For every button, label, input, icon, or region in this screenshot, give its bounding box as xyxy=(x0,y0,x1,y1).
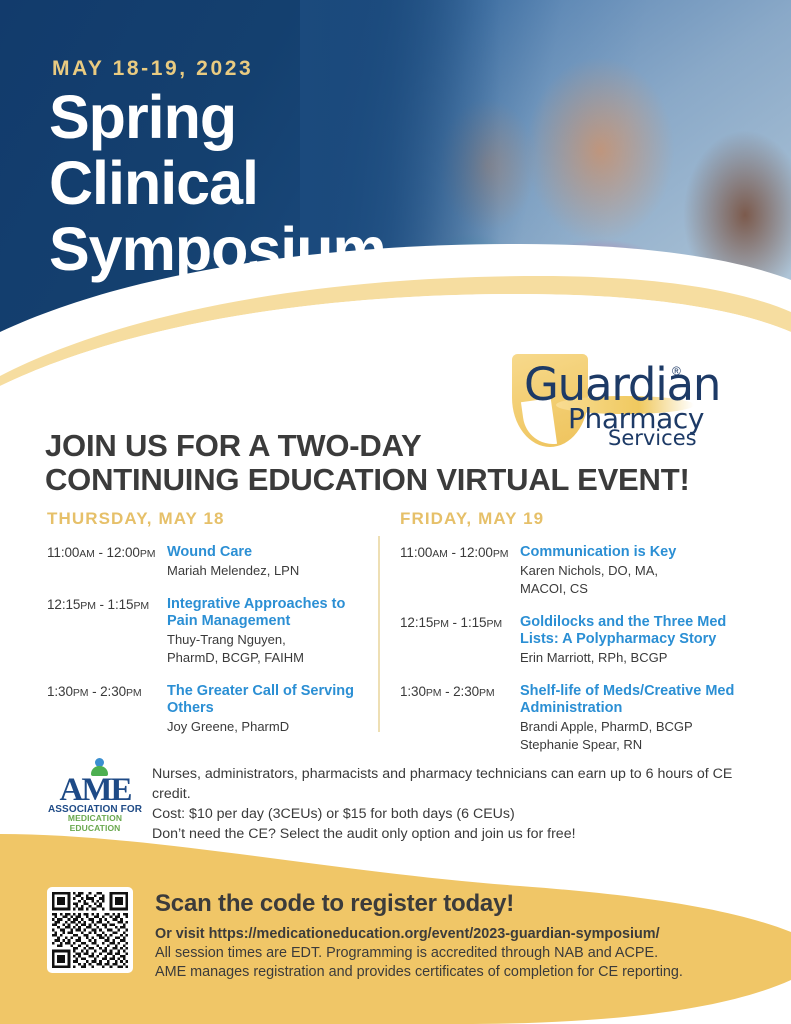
session-title: Shelf-life of Meds/Creative Med Administ… xyxy=(520,683,760,717)
session-row: 11:00AM - 12:00PMCommunication is KeyKar… xyxy=(400,544,760,597)
schedule-day-thursday: THURSDAY, MAY 18 11:00AM - 12:00PMWound … xyxy=(47,509,367,752)
session-details: Wound CareMariah Melendez, LPN xyxy=(167,544,367,579)
event-headline: JOIN US FOR A TWO-DAY CONTINUING EDUCATI… xyxy=(45,429,735,497)
session-title: Communication is Key xyxy=(520,544,760,561)
session-time: 11:00AM - 12:00PM xyxy=(47,544,167,579)
session-details: Shelf-life of Meds/Creative Med Administ… xyxy=(520,683,760,753)
registered-trademark-icon: ® xyxy=(672,364,681,378)
footer-note-line-2: All session times are EDT. Programming i… xyxy=(155,944,658,963)
session-row: 12:15PM - 1:15PMGoldilocks and the Three… xyxy=(400,614,760,666)
ame-logo: AME ASSOCIATION FOR MEDICATION EDUCATION xyxy=(45,760,145,820)
session-presenter: Mariah Melendez, LPN xyxy=(167,563,367,579)
session-list: 11:00AM - 12:00PMCommunication is KeyKar… xyxy=(400,544,760,753)
footer-note-line-3: AME manages registration and provides ce… xyxy=(155,963,683,982)
session-details: Goldilocks and the Three Med Lists: A Po… xyxy=(520,614,760,666)
registration-url[interactable]: Or visit https://medicationeducation.org… xyxy=(155,925,660,944)
session-time: 11:00AM - 12:00PM xyxy=(400,544,520,597)
session-presenter: Thuy-Trang Nguyen, xyxy=(167,632,367,648)
session-row: 1:30PM - 2:30PMShelf-life of Meds/Creati… xyxy=(400,683,760,753)
session-row: 11:00AM - 12:00PMWound CareMariah Melend… xyxy=(47,544,367,579)
qr-code-icon xyxy=(52,892,128,968)
title-line-1: Spring xyxy=(49,84,386,150)
session-time: 1:30PM - 2:30PM xyxy=(47,683,167,735)
session-time: 1:30PM - 2:30PM xyxy=(400,683,520,753)
ce-line-1: Nurses, administrators, pharmacists and … xyxy=(152,764,772,804)
session-list: 11:00AM - 12:00PMWound CareMariah Melend… xyxy=(47,544,367,735)
session-details: Integrative Approaches to Pain Managemen… xyxy=(167,596,367,666)
session-title: The Greater Call of Serving Others xyxy=(167,683,367,717)
session-row: 12:15PM - 1:15PMIntegrative Approaches t… xyxy=(47,596,367,666)
scan-cta-title: Scan the code to register today! xyxy=(155,890,514,918)
session-presenter: Stephanie Spear, RN xyxy=(520,737,760,753)
title-line-2: Clinical xyxy=(49,150,386,216)
session-presenter: Brandi Apple, PharmD, BCGP xyxy=(520,719,760,735)
qr-code-registration[interactable] xyxy=(47,887,133,973)
headline-line-1: JOIN US FOR A TWO-DAY xyxy=(45,429,735,463)
session-presenter: Joy Greene, PharmD xyxy=(167,719,367,735)
event-dates: MAY 18-19, 2023 xyxy=(52,57,253,81)
headline-line-2: CONTINUING EDUCATION VIRTUAL EVENT! xyxy=(45,463,735,497)
session-time: 12:15PM - 1:15PM xyxy=(400,614,520,666)
session-presenter: Erin Marriott, RPh, BCGP xyxy=(520,650,760,666)
session-details: Communication is KeyKaren Nichols, DO, M… xyxy=(520,544,760,597)
session-presenter: MACOI, CS xyxy=(520,581,760,597)
session-title: Wound Care xyxy=(167,544,367,561)
session-row: 1:30PM - 2:30PMThe Greater Call of Servi… xyxy=(47,683,367,735)
day-heading: FRIDAY, MAY 19 xyxy=(400,509,760,529)
session-time: 12:15PM - 1:15PM xyxy=(47,596,167,666)
session-title: Goldilocks and the Three Med Lists: A Po… xyxy=(520,614,760,648)
day-heading: THURSDAY, MAY 18 xyxy=(47,509,367,529)
session-details: The Greater Call of Serving OthersJoy Gr… xyxy=(167,683,367,735)
session-presenter: Karen Nichols, DO, MA, xyxy=(520,563,760,579)
session-presenter: PharmD, BCGP, FAIHM xyxy=(167,650,367,666)
schedule-column-divider xyxy=(378,536,380,732)
session-title: Integrative Approaches to Pain Managemen… xyxy=(167,596,367,630)
event-flyer: MAY 18-19, 2023 Spring Clinical Symposiu… xyxy=(0,0,791,1024)
schedule-day-friday: FRIDAY, MAY 19 11:00AM - 12:00PMCommunic… xyxy=(400,509,760,770)
